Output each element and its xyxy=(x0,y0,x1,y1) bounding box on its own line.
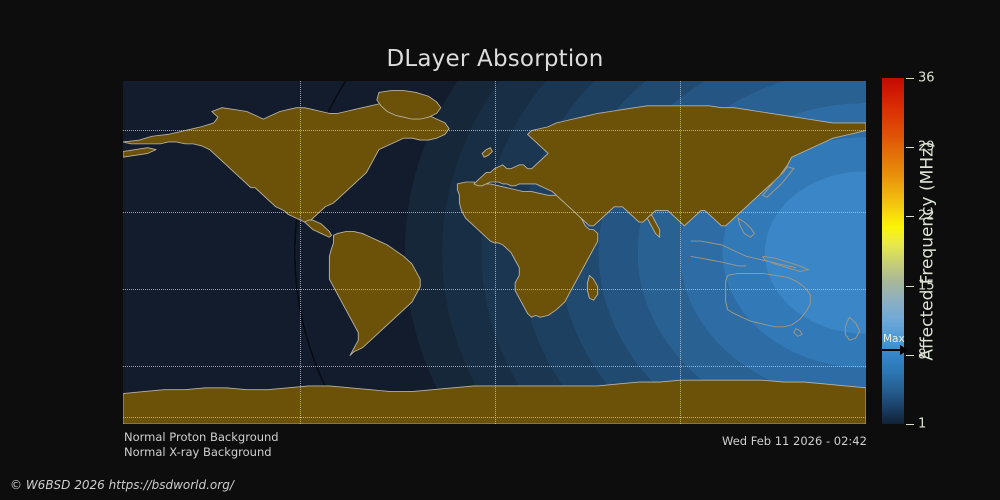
max-marker-arrow-icon xyxy=(882,349,906,351)
proton-status-note: Normal Proton Background xyxy=(124,432,279,444)
max-marker-label: Max xyxy=(883,334,905,345)
xray-status-note: Normal X-ray Background xyxy=(124,447,272,459)
colorbar-axis-label: Affected Frequency (MHz) xyxy=(916,78,940,424)
colorbar-tick xyxy=(906,286,914,287)
colorbar-axis-label-text: Affected Frequency (MHz) xyxy=(918,141,938,360)
dlayer-absorption-screen: DLayer Absorption xyxy=(0,0,1000,500)
colorbar-tick xyxy=(906,424,914,425)
colorbar: 36 29 22 15 8 1 xyxy=(882,78,904,424)
colorbar-tick xyxy=(906,78,914,79)
colorbar-gradient xyxy=(882,78,904,424)
timestamp: Wed Feb 11 2026 - 02:42 xyxy=(722,436,867,448)
copyright-notice: © W6BSD 2026 https://bsdworld.org/ xyxy=(10,479,234,491)
page-title: DLayer Absorption xyxy=(0,48,990,71)
world-map-panel xyxy=(123,81,866,424)
colorbar-tick xyxy=(906,216,914,217)
colorbar-tick xyxy=(906,147,914,148)
world-coastlines xyxy=(123,81,866,424)
